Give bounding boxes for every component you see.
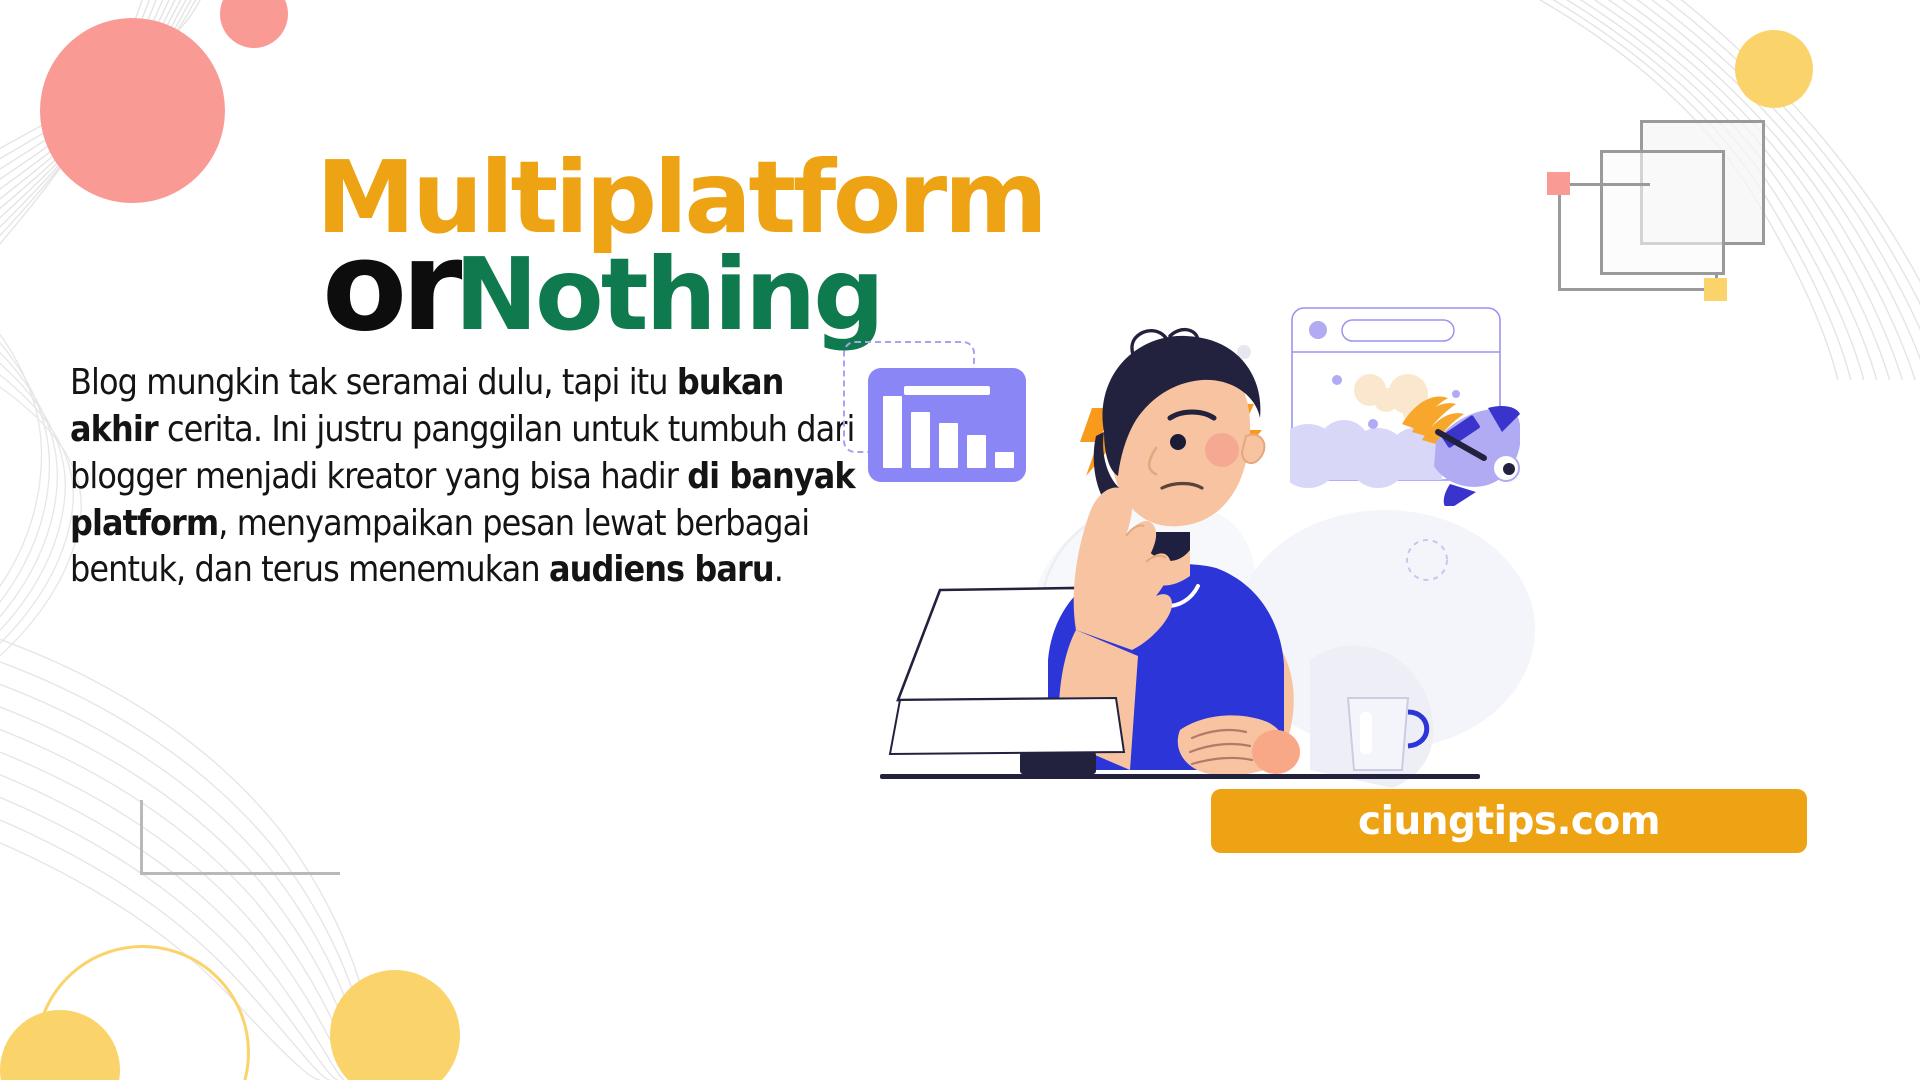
desk-surface xyxy=(880,774,1480,779)
eye xyxy=(1170,434,1186,450)
decor-dashed-circle xyxy=(1404,537,1450,583)
decor-square-inner xyxy=(1600,150,1725,275)
body-paragraph: Blog mungkin tak seramai dulu, tapi itu … xyxy=(70,360,860,594)
browser-address-bar xyxy=(1342,320,1454,341)
site-badge-label: ciungtips.com xyxy=(1358,799,1660,844)
decor-circle-amber-top-right xyxy=(1735,30,1813,108)
rocket-window-pupil xyxy=(1503,463,1515,475)
cheek-blush xyxy=(1205,433,1239,467)
body-segment-6: . xyxy=(774,549,783,590)
decor-dot-pink xyxy=(1547,172,1570,195)
laptop-base xyxy=(1020,752,1096,774)
site-badge[interactable]: ciungtips.com xyxy=(1211,789,1807,853)
ear xyxy=(1242,435,1264,463)
sparkle-dot-3 xyxy=(1452,390,1460,398)
browser-rocket-illustration xyxy=(1290,306,1520,506)
poster-canvas: Multiplatform orNothing Blog mungkin tak… xyxy=(0,0,1920,1080)
decor-corner-rectangle xyxy=(140,800,340,875)
headline-nothing: Nothing xyxy=(454,236,881,353)
rocket-fin-bottom xyxy=(1444,484,1476,506)
elbow-shade xyxy=(1252,730,1300,774)
headline-or: or xyxy=(322,215,456,359)
laptop-keyboard xyxy=(890,698,1124,754)
sparkle-dot-1 xyxy=(1332,375,1342,385)
decor-connector-bottom xyxy=(1558,288,1718,291)
body-segment-0: Blog mungkin tak seramai dulu, tapi itu xyxy=(70,362,677,403)
browser-dot-icon xyxy=(1309,321,1327,339)
decor-connector-vertical xyxy=(1558,183,1561,291)
body-segment-5: audiens baru xyxy=(549,549,774,590)
decor-circle-coral-large xyxy=(40,18,225,203)
sparkle-dot-2 xyxy=(1368,419,1378,429)
decor-dot-amber xyxy=(1704,278,1727,301)
decor-connector-horizontal xyxy=(1558,183,1650,186)
